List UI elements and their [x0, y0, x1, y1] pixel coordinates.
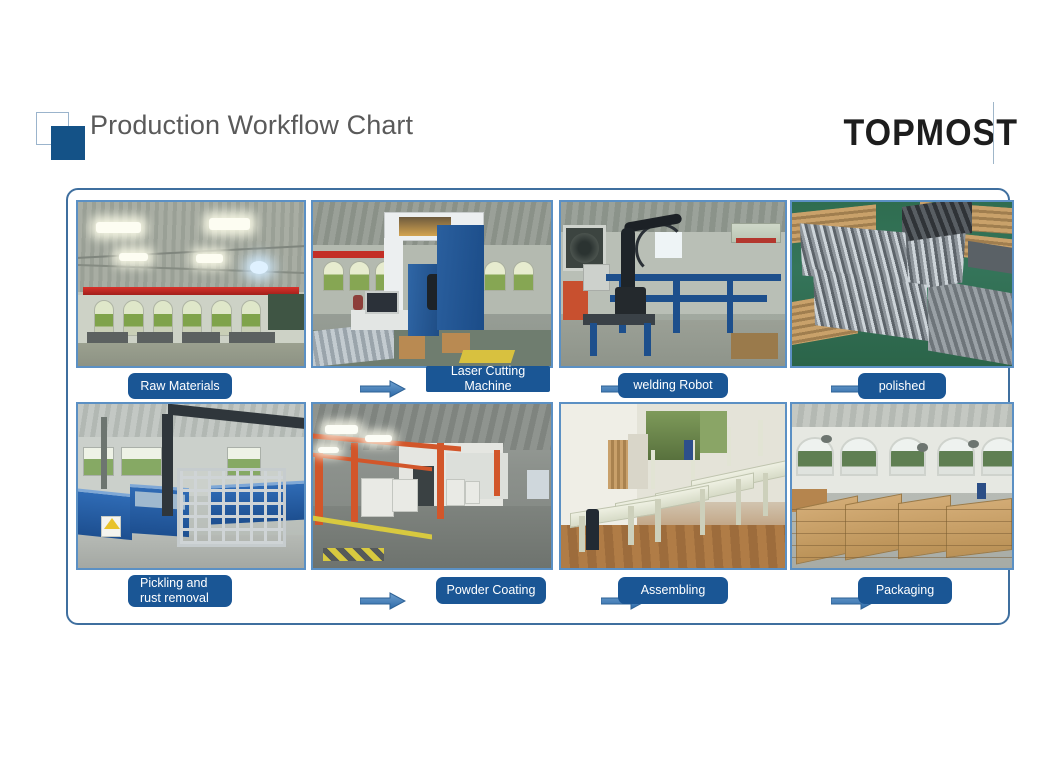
- workflow-frame: Raw Materials: [66, 188, 1010, 625]
- step-photo-laser-cutting: [311, 200, 553, 368]
- page-title: Production Workflow Chart: [90, 110, 413, 141]
- right-arrow-icon-4: [360, 592, 406, 610]
- step-label-raw-materials[interactable]: Raw Materials: [128, 373, 232, 399]
- step-label-packaging[interactable]: Packaging: [858, 577, 952, 604]
- brand-prefix: TOP: [843, 112, 915, 153]
- step-label-laser-cutting[interactable]: Laser Cutting Machine: [426, 366, 550, 392]
- step-label-powder-coating[interactable]: Powder Coating: [436, 577, 546, 604]
- brand-suffix: OST: [945, 112, 1018, 153]
- page-header: Production Workflow Chart TOPMOST: [0, 96, 1060, 168]
- workflow-row-1: Raw Materials: [68, 200, 1012, 405]
- step-label-polished[interactable]: polished: [858, 373, 946, 399]
- two-squares-logo-icon: [36, 112, 88, 160]
- step-label-pickling[interactable]: Pickling and rust removal: [128, 575, 232, 607]
- step-photo-powder-coating: [311, 402, 553, 570]
- brand-m-glyph: M: [916, 100, 945, 167]
- right-arrow-icon-1: [360, 380, 406, 398]
- step-photo-assembling: [559, 402, 787, 570]
- step-photo-polished: [790, 200, 1014, 368]
- brand-wordmark: TOPMOST: [843, 100, 1018, 167]
- logo-solid-square: [51, 126, 85, 160]
- step-label-welding-robot[interactable]: welding Robot: [618, 373, 728, 398]
- step-label-assembling[interactable]: Assembling: [618, 577, 728, 604]
- workflow-row-2: Pickling and rust removal Powd: [68, 402, 1012, 607]
- step-photo-pickling: [76, 402, 306, 570]
- brand-logo: TOPMOST: [843, 102, 1018, 164]
- step-photo-packaging: [790, 402, 1014, 570]
- brand-divider: [993, 102, 994, 164]
- step-photo-raw-materials: [76, 200, 306, 368]
- step-photo-welding-robot: [559, 200, 787, 368]
